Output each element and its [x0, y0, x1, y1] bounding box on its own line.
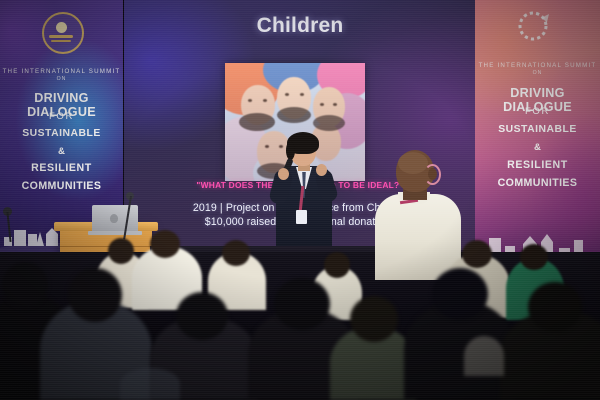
laptop-on-podium	[92, 205, 138, 231]
headset-icon	[424, 164, 441, 185]
banner-right: THE INTERNATIONAL SUMMIT ON DRIVING DIAL…	[475, 0, 600, 268]
laptop-base	[88, 231, 142, 235]
banner-right-summit: THE INTERNATIONAL SUMMIT	[475, 62, 600, 69]
banner-left-communities: COMMUNITIES	[0, 180, 123, 192]
apple-logo-icon	[110, 214, 118, 223]
summit-emblem-icon	[42, 12, 84, 54]
conference-stage-photo: Children	[0, 0, 600, 400]
banner-left-on: ON	[0, 76, 123, 82]
banner-left-for: FOR	[0, 111, 123, 122]
banner-left-amp: &	[0, 146, 123, 157]
summit-emblem-icon	[513, 6, 553, 46]
banner-right-communities: COMMUNITIES	[475, 177, 600, 189]
banner-right-resilient: RESILIENT	[475, 159, 600, 171]
banner-left-resilient: RESILIENT	[0, 162, 123, 174]
banner-right-amp: &	[475, 142, 600, 153]
banner-right-for: FOR	[475, 106, 600, 117]
slide-title: Children	[120, 14, 480, 38]
speaker-badge	[296, 210, 307, 224]
banner-left-summit: THE INTERNATIONAL SUMMIT	[0, 68, 123, 75]
banner-right-sustainable: SUSTAINABLE	[475, 124, 600, 135]
banner-right-on: ON	[475, 70, 600, 76]
banner-left-sustainable: SUSTAINABLE	[0, 128, 123, 139]
